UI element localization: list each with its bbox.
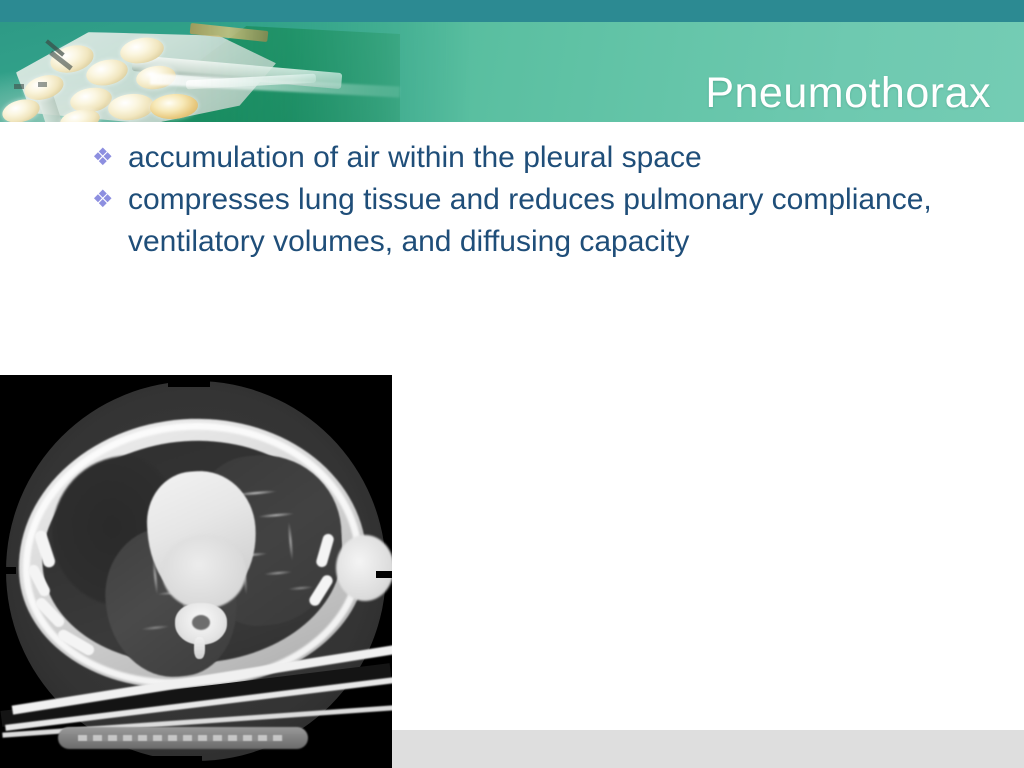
ct-edge-marker: [168, 375, 210, 387]
diamond-bullet-icon: ❖: [92, 179, 128, 221]
top-accent-bar: [0, 0, 1024, 22]
ct-spinous-process: [194, 637, 205, 659]
surgical-operating-lights-photo: [0, 22, 470, 122]
bullet-list: ❖ accumulation of air within the pleural…: [0, 137, 1024, 263]
slide-title: Pneumothorax: [705, 72, 991, 115]
ct-spinal-canal: [192, 615, 210, 630]
slide-body: ❖ accumulation of air within the pleural…: [0, 122, 1024, 263]
chest-ct-scan-image: [0, 375, 392, 768]
footer-band: [392, 730, 1024, 768]
photo-detail-mark: [14, 84, 24, 89]
slide-header-banner: Pneumothorax: [0, 22, 1024, 122]
ct-table-pad-texture: [78, 735, 283, 741]
bullet-item: ❖ compresses lung tissue and reduces pul…: [0, 179, 1024, 263]
ct-edge-marker: [0, 567, 16, 574]
ct-edge-marker: [150, 756, 202, 768]
photo-detail-mark: [38, 82, 47, 87]
bullet-text: compresses lung tissue and reduces pulmo…: [128, 179, 976, 263]
ct-arm-soft-tissue: [336, 535, 392, 601]
ct-edge-marker: [376, 571, 392, 578]
bullet-item: ❖ accumulation of air within the pleural…: [0, 137, 1024, 179]
diamond-bullet-icon: ❖: [92, 137, 128, 179]
bullet-text: accumulation of air within the pleural s…: [128, 137, 702, 179]
